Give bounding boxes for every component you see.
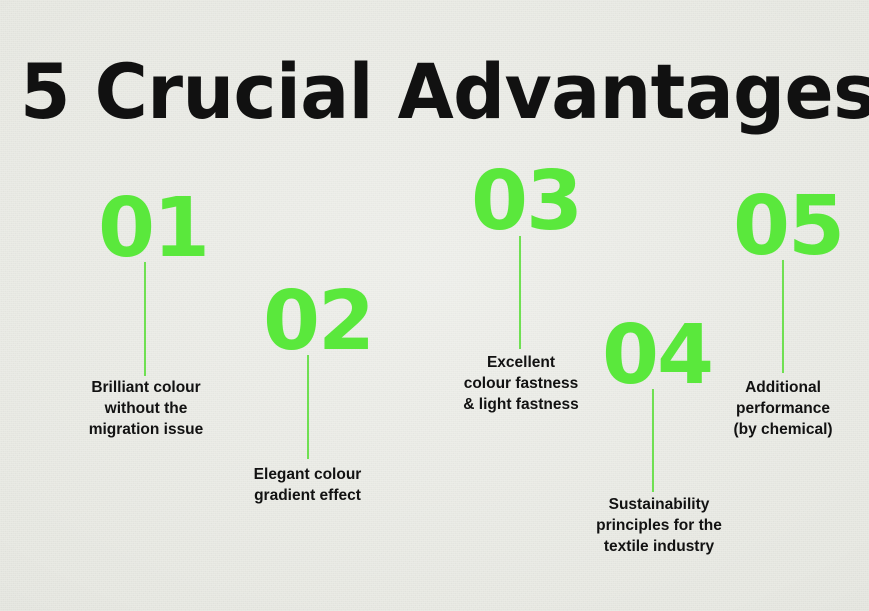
connector-line-04 <box>652 389 654 492</box>
connector-line-05 <box>782 260 784 373</box>
milestone-number-01: 01 <box>98 188 208 270</box>
connector-line-02 <box>307 355 309 459</box>
connector-line-03 <box>519 236 521 349</box>
milestone-caption-02: Elegant colour gradient effect <box>230 464 385 506</box>
slide-title: 5 Crucial Advantages <box>20 51 869 133</box>
milestone-number-04: 04 <box>602 315 712 397</box>
milestone-number-05: 05 <box>733 186 843 268</box>
milestone-number-02: 02 <box>263 281 373 363</box>
milestone-caption-03: Excellent colour fastness & light fastne… <box>441 352 601 415</box>
milestone-caption-04: Sustainability principles for the textil… <box>588 494 730 557</box>
milestone-number-03: 03 <box>471 161 581 243</box>
connector-line-01 <box>144 262 146 376</box>
slide-canvas: 5 Crucial Advantages 01 Brilliant colour… <box>0 0 869 611</box>
milestone-caption-01: Brilliant colour without the migration i… <box>65 377 227 440</box>
milestone-caption-05: Additional performance (by chemical) <box>713 377 853 440</box>
